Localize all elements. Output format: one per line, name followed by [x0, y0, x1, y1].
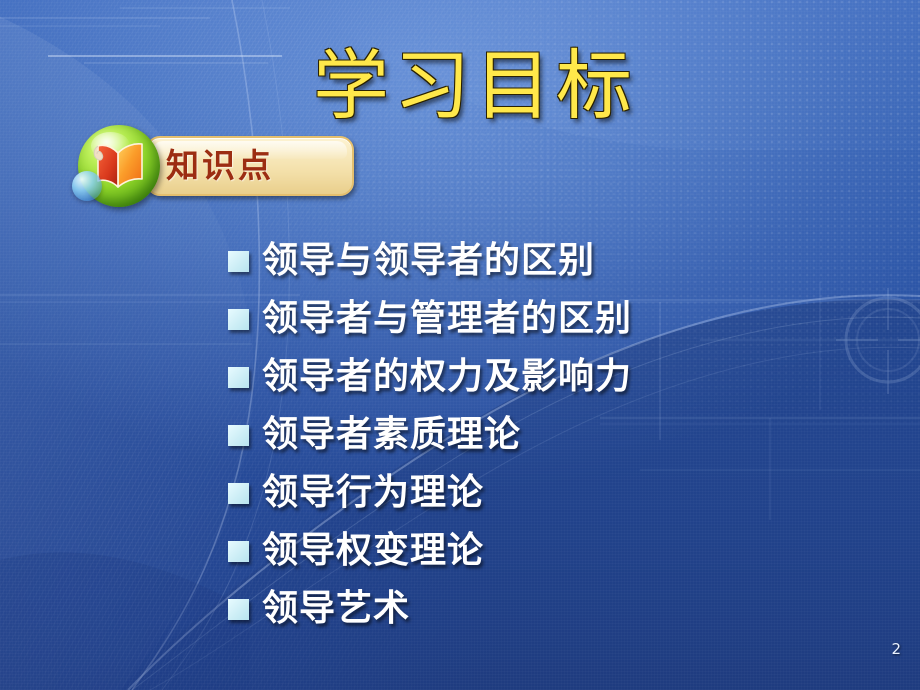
- list-item-label: 领导与领导者的区别: [262, 239, 595, 283]
- square-bullet-icon: [228, 599, 249, 620]
- list-item: 领导者与管理者的区别: [228, 290, 828, 348]
- list-item-label: 领导者的权力及影响力: [262, 355, 632, 399]
- list-item-label: 领导艺术: [262, 587, 410, 631]
- list-item: 领导艺术: [228, 580, 828, 638]
- knowledge-point-badge: 知识点: [78, 125, 356, 207]
- square-bullet-icon: [228, 541, 249, 562]
- square-bullet-icon: [228, 251, 249, 272]
- square-bullet-icon: [228, 309, 249, 330]
- slide-canvas: 学习目标: [0, 0, 920, 690]
- list-item-label: 领导者与管理者的区别: [262, 297, 632, 341]
- list-item-label: 领导行为理论: [262, 471, 484, 515]
- badge-label: 知识点: [166, 141, 346, 191]
- list-item-label: 领导权变理论: [262, 529, 484, 573]
- square-bullet-icon: [228, 483, 249, 504]
- square-bullet-icon: [228, 367, 249, 388]
- list-item: 领导者的权力及影响力: [228, 348, 828, 406]
- page-number: 2: [891, 640, 901, 658]
- list-item: 领导者素质理论: [228, 406, 828, 464]
- slide-title: 学习目标: [0, 46, 920, 126]
- square-bullet-icon: [228, 425, 249, 446]
- bullet-list: 领导与领导者的区别 领导者与管理者的区别 领导者的权力及影响力 领导者素质理论 …: [228, 232, 828, 638]
- list-item: 领导与领导者的区别: [228, 232, 828, 290]
- list-item: 领导行为理论: [228, 464, 828, 522]
- list-item: 领导权变理论: [228, 522, 828, 580]
- blue-bubble-icon: [72, 171, 102, 201]
- list-item-label: 领导者素质理论: [262, 413, 521, 457]
